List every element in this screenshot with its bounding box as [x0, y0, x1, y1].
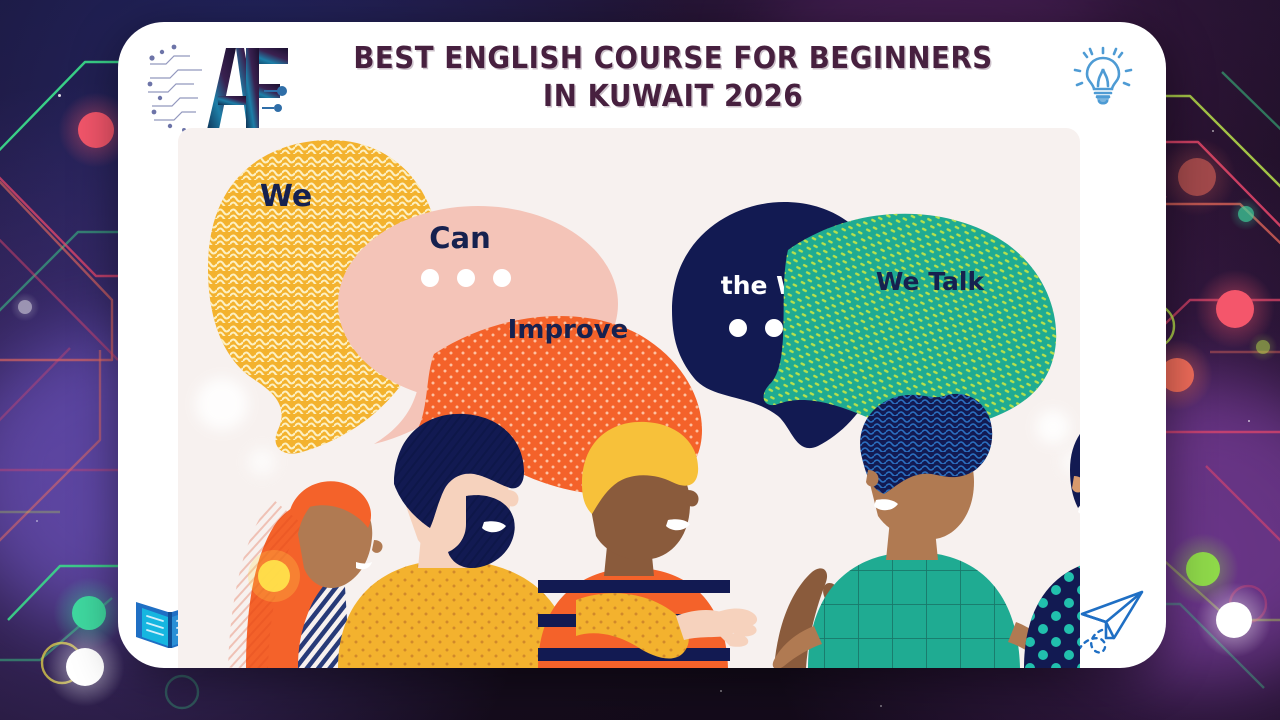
glow-orb: [1256, 340, 1270, 354]
glow-orb: [72, 596, 106, 630]
poster-card: BEST ENGLISH COURSE FOR BEGINNERS IN KUW…: [118, 22, 1166, 668]
glow-orb: [1216, 602, 1252, 638]
bubble-dots-can: [421, 269, 511, 287]
glow-orb: [1178, 158, 1216, 196]
glow-orb: [1238, 206, 1254, 222]
conversation-illustration: We Can Improve: [178, 128, 1080, 668]
lightbulb-icon: [1064, 38, 1142, 116]
illustration-panel: We Can Improve: [178, 128, 1080, 668]
bubble-label-can: Can: [429, 221, 491, 255]
af-monogram-circuit-logo: [144, 38, 296, 142]
glow-orb: [1186, 552, 1220, 586]
glow-orb: [78, 112, 114, 148]
title-line-1: BEST ENGLISH COURSE FOR BEGINNERS: [310, 40, 1037, 78]
title-line-2: IN KUWAIT 2026: [310, 78, 1037, 116]
glow-orb: [1216, 290, 1254, 328]
glow-orb: [18, 300, 32, 314]
bubble-label-improve: Improve: [508, 315, 629, 345]
bubble-label-we: We: [260, 179, 312, 214]
glow-orb: [66, 648, 104, 686]
bubble-label-we-talk: We Talk: [876, 267, 986, 296]
person-man-polka-shirt: [1024, 410, 1080, 668]
page-title: BEST ENGLISH COURSE FOR BEGINNERS IN KUW…: [310, 40, 1037, 116]
